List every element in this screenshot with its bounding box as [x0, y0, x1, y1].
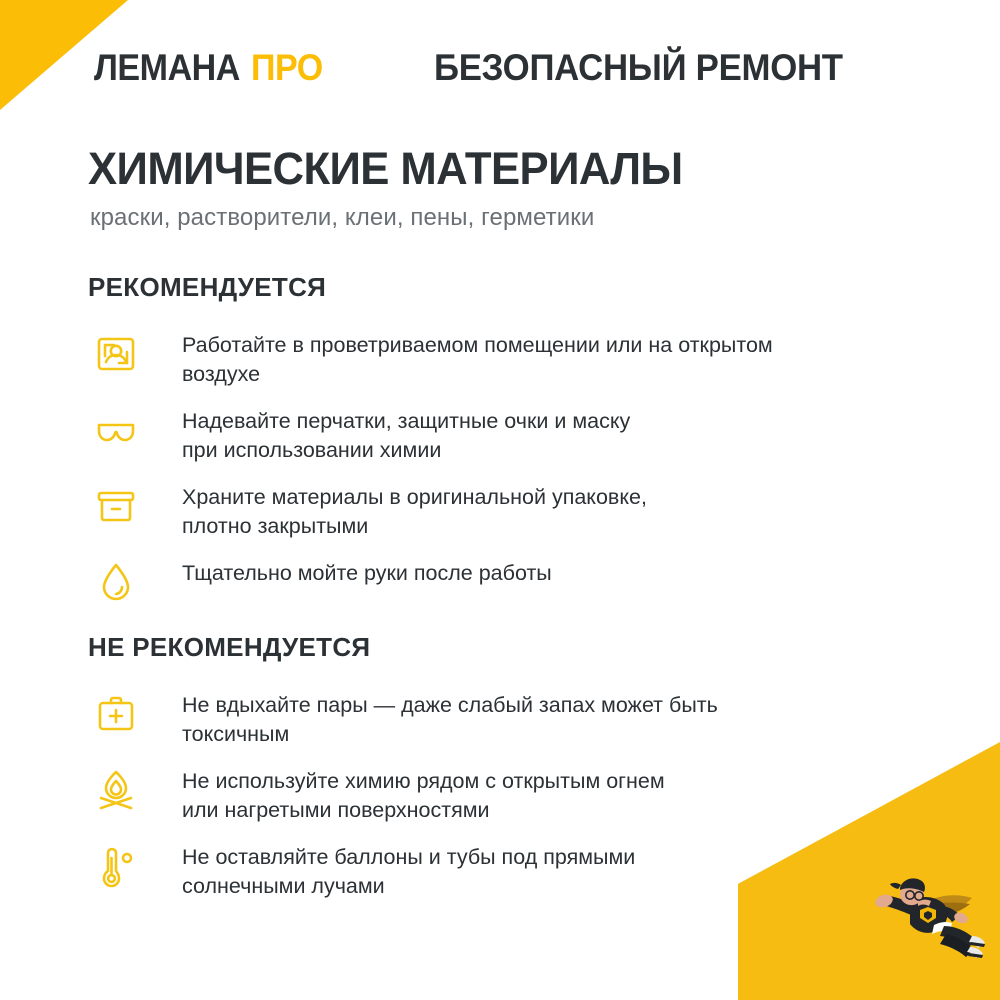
page-title: ХИМИЧЕСКИЕ МАТЕРИАЛЫ [88, 143, 683, 195]
list-item-text: Не используйте химию рядом с открытым ог… [144, 762, 918, 825]
list-item: Надевайте перчатки, защитные очки и маск… [88, 402, 918, 465]
ventilated-room-icon [88, 326, 144, 382]
brand-logo: ЛЕМАНА ПРО [94, 40, 323, 96]
brand-logo-accent: ПРО [251, 47, 323, 89]
list-item-text: Не вдыхайте пары — даже слабый запах мож… [144, 686, 918, 749]
campfire-icon [88, 762, 144, 818]
list-item-text: Тщательно мойте руки после работы [144, 554, 918, 588]
storage-box-icon [88, 478, 144, 534]
recommended-list: Работайте в проветриваемом помещении или… [88, 326, 918, 623]
section-heading-recommended: РЕКОМЕНДУЕТСЯ [88, 272, 326, 303]
list-item-text: Надевайте перчатки, защитные очки и маск… [144, 402, 918, 465]
water-drop-icon [88, 554, 144, 610]
safety-goggles-icon [88, 402, 144, 458]
list-item: Храните материалы в оригинальной упаковк… [88, 478, 918, 541]
list-item-text: Не оставляйте баллоны и тубы под прямыми… [144, 838, 918, 901]
header-campaign-title: БЕЗОПАСНЫЙ РЕМОНТ [434, 40, 843, 96]
page-subtitle: краски, растворители, клеи, пены, гермет… [90, 204, 594, 232]
brand-logo-primary: ЛЕМАНА [94, 47, 240, 89]
list-item: Работайте в проветриваемом помещении или… [88, 326, 918, 389]
not-recommended-list: Не вдыхайте пары — даже слабый запах мож… [88, 686, 918, 914]
poster-header: ЛЕМАНА ПРО БЕЗОПАСНЫЙ РЕМОНТ [0, 40, 1000, 96]
list-item: Не оставляйте баллоны и тубы под прямыми… [88, 838, 918, 901]
list-item-text: Работайте в проветриваемом помещении или… [144, 326, 918, 389]
list-item: Тщательно мойте руки после работы [88, 554, 918, 610]
section-heading-not-recommended: НЕ РЕКОМЕНДУЕТСЯ [88, 632, 370, 663]
list-item: Не используйте химию рядом с открытым ог… [88, 762, 918, 825]
list-item: Не вдыхайте пары — даже слабый запах мож… [88, 686, 918, 749]
thermometer-sun-icon [88, 838, 144, 894]
list-item-text: Храните материалы в оригинальной упаковк… [144, 478, 918, 541]
first-aid-kit-icon [88, 686, 144, 742]
infographic-poster: ЛЕМАНА ПРО БЕЗОПАСНЫЙ РЕМОНТ ХИМИЧЕСКИЕ … [0, 0, 1000, 1000]
